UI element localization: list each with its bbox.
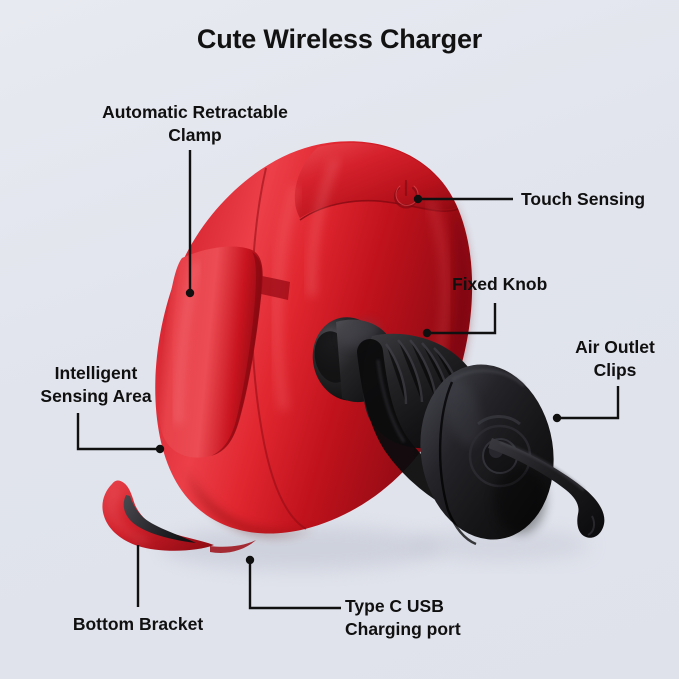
label-automatic-retractable-clamp: Automatic Retractable Clamp [60,101,330,148]
label-intelligent-sensing-area: Intelligent Sensing Area [16,362,176,409]
leader-intelligent-sensing [78,413,164,453]
label-air-outlet-clips: Air Outlet Clips [560,336,670,383]
leader-air-outlet-clips [553,386,618,422]
label-type-c-charging-port: Type C USB Charging port [345,595,535,642]
label-touch-sensing: Touch Sensing [521,188,671,211]
product-infographic: Cute Wireless Charger [0,0,679,679]
label-bottom-bracket: Bottom Bracket [48,613,228,636]
label-fixed-knob: Fixed Knob [452,273,602,296]
